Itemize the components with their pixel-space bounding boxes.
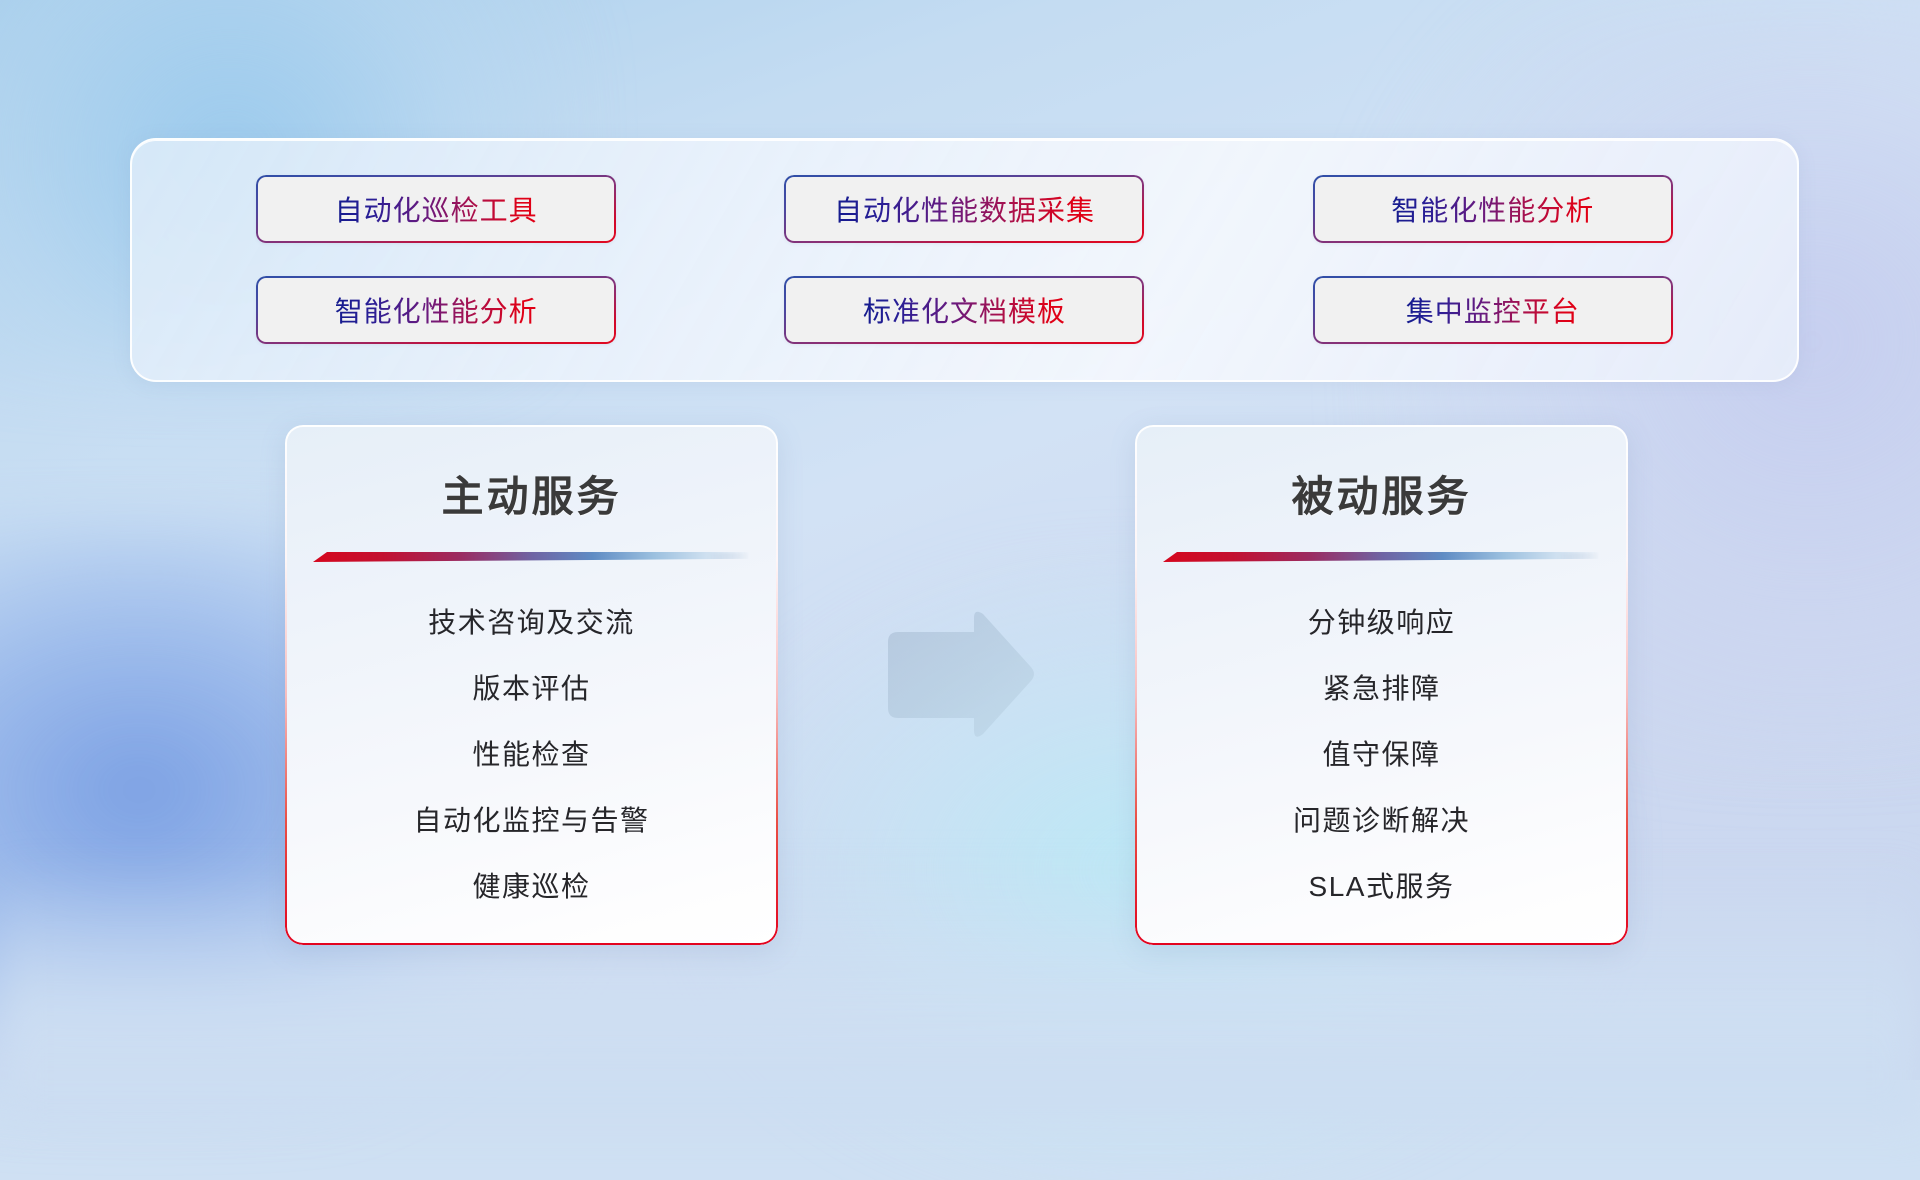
capability-tag-label: 集中监控平台 <box>1406 290 1580 330</box>
gradient-divider-bar <box>313 552 750 562</box>
reactive-service-title: 被动服务 <box>1135 463 1628 524</box>
reactive-service-divider <box>1163 552 1600 564</box>
capability-tag-automated-inspection-tool[interactable]: 自动化巡检工具 <box>256 175 616 243</box>
list-item[interactable]: 版本评估 <box>472 656 590 722</box>
right-arrow-icon <box>878 608 1038 742</box>
list-item[interactable]: 健康巡检 <box>472 854 590 920</box>
reactive-service-card[interactable]: 被动服务 分钟级响应 紧急排障 值守保障 问题诊断解决 SLA式服务 <box>1135 425 1628 945</box>
list-item[interactable]: 分钟级响应 <box>1308 590 1456 656</box>
capability-tag-automated-performance-data-collection[interactable]: 自动化性能数据采集 <box>784 175 1144 243</box>
proactive-service-item-list: 技术咨询及交流 版本评估 性能检查 自动化监控与告警 健康巡检 <box>285 590 778 920</box>
capability-tag-label: 自动化巡检工具 <box>335 189 538 229</box>
capability-tags-grid: 自动化巡检工具 自动化性能数据采集 智能化性能分析 智能化性能分析 标准化文档模… <box>132 140 1797 380</box>
list-item[interactable]: SLA式服务 <box>1309 854 1455 920</box>
capability-tag-standardized-document-template[interactable]: 标准化文档模板 <box>784 276 1144 344</box>
capability-tag-label: 标准化文档模板 <box>863 290 1066 330</box>
list-item[interactable]: 性能检查 <box>472 722 590 788</box>
proactive-service-card[interactable]: 主动服务 技术咨询及交流 版本评估 性能检查 自动化监控与告警 健康巡检 <box>285 425 778 945</box>
gradient-divider-bar <box>1163 552 1600 562</box>
list-item[interactable]: 技术咨询及交流 <box>428 590 635 656</box>
capability-tag-label: 自动化性能数据采集 <box>834 189 1095 229</box>
capability-tag-label: 智能化性能分析 <box>335 290 538 330</box>
proactive-service-title: 主动服务 <box>285 463 778 524</box>
list-item[interactable]: 紧急排障 <box>1322 656 1440 722</box>
reactive-service-item-list: 分钟级响应 紧急排障 值守保障 问题诊断解决 SLA式服务 <box>1135 590 1628 920</box>
list-item[interactable]: 值守保障 <box>1322 722 1440 788</box>
capability-tags-panel: 自动化巡检工具 自动化性能数据采集 智能化性能分析 智能化性能分析 标准化文档模… <box>130 138 1799 382</box>
capability-tag-intelligent-performance-analysis-top[interactable]: 智能化性能分析 <box>1313 175 1673 243</box>
list-item[interactable]: 自动化监控与告警 <box>413 788 649 854</box>
capability-tag-intelligent-performance-analysis-bottom[interactable]: 智能化性能分析 <box>256 276 616 344</box>
capability-tag-centralized-monitoring-platform[interactable]: 集中监控平台 <box>1313 276 1673 344</box>
capability-tag-label: 智能化性能分析 <box>1391 189 1594 229</box>
proactive-service-divider <box>313 552 750 564</box>
list-item[interactable]: 问题诊断解决 <box>1293 788 1470 854</box>
